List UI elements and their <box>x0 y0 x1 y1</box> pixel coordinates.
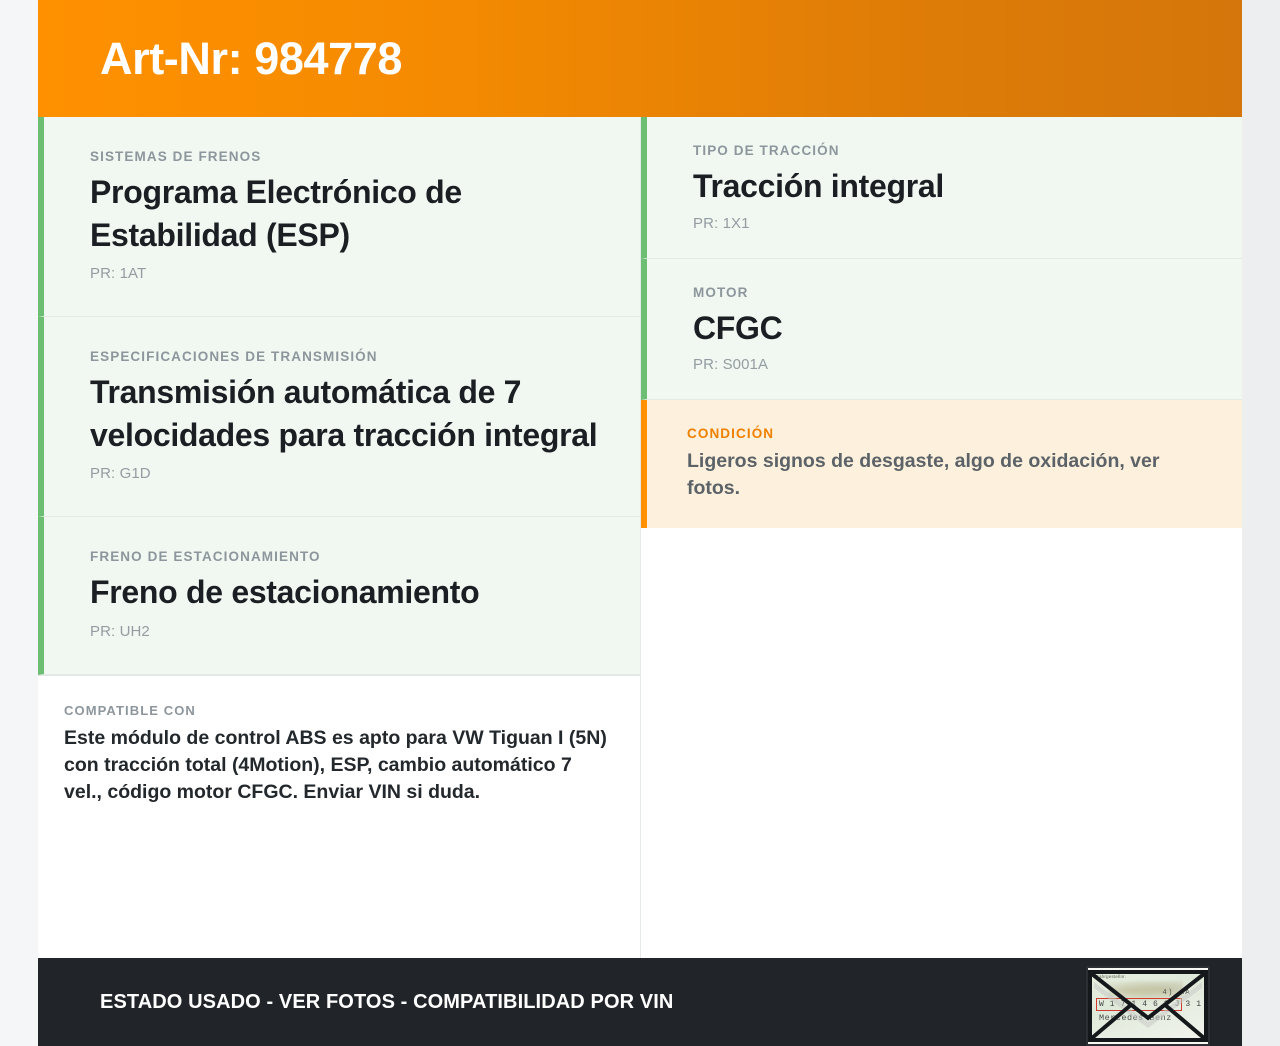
vin-document-thumbnail: Fahrgestellnr. 4) AA W 1 7 1 4 6 2 J 3 1… <box>1086 966 1210 1046</box>
spec-pr-code: PR: 1X1 <box>693 215 1212 232</box>
spec-pr-code: PR: UH2 <box>90 623 610 640</box>
condition-text: Ligeros signos de desgaste, algo de oxid… <box>687 448 1202 501</box>
spec-value: Tracción integral <box>693 165 1212 208</box>
spec-card-engine: MOTOR CFGC PR: S001A <box>641 259 1242 401</box>
spec-pr-code: PR: 1AT <box>90 265 610 282</box>
compatibility-text: Este módulo de control ABS es apto para … <box>64 725 608 806</box>
listing-container: Art-Nr: 984778 SISTEMAS DE FRENOS Progra… <box>38 0 1242 1046</box>
vin-top-code: 4) AA <box>1162 989 1191 997</box>
compatibility-label: COMPATIBLE CON <box>64 703 608 718</box>
article-number: Art-Nr: 984778 <box>100 36 402 81</box>
spec-card-brake-systems: SISTEMAS DE FRENOS Programa Electrónico … <box>38 117 640 317</box>
spec-body: SISTEMAS DE FRENOS Programa Electrónico … <box>38 117 1242 958</box>
spec-value: Transmisión automática de 7 velocidades … <box>90 371 610 456</box>
spec-column-left: SISTEMAS DE FRENOS Programa Electrónico … <box>38 117 640 958</box>
spec-label: MOTOR <box>693 285 1212 300</box>
vin-caption: Fahrgestellnr. <box>1096 974 1126 979</box>
spec-label: ESPECIFICACIONES DE TRANSMISIÓN <box>90 349 610 364</box>
spec-pr-code: PR: S001A <box>693 356 1212 373</box>
vin-number: W 1 7 1 4 6 2 J 3 1 4 3 7 <box>1099 1000 1210 1009</box>
spec-label: SISTEMAS DE FRENOS <box>90 149 610 164</box>
spec-column-right: TIPO DE TRACCIÓN Tracción integral PR: 1… <box>640 117 1242 958</box>
vin-brand: Mercedes-Benz <box>1099 1013 1172 1023</box>
spec-value: Programa Electrónico de Estabilidad (ESP… <box>90 171 610 256</box>
right-column-filler <box>641 528 1242 959</box>
spec-value: Freno de estacionamiento <box>90 571 610 614</box>
spec-value: CFGC <box>693 307 1212 350</box>
compatibility-block: COMPATIBLE CON Este módulo de control AB… <box>38 675 640 832</box>
condition-card: CONDICIÓN Ligeros signos de desgaste, al… <box>641 400 1242 527</box>
condition-label: CONDICIÓN <box>687 426 1202 441</box>
footer-notice: ESTADO USADO - VER FOTOS - COMPATIBILIDA… <box>100 991 673 1014</box>
vin-document-image: Fahrgestellnr. 4) AA W 1 7 1 4 6 2 J 3 1… <box>1091 971 1205 1041</box>
listing-header: Art-Nr: 984778 <box>38 0 1242 117</box>
left-column-filler <box>38 831 640 958</box>
spec-pr-code: PR: G1D <box>90 465 610 482</box>
spec-card-parking-brake: FRENO DE ESTACIONAMIENTO Freno de estaci… <box>38 517 640 675</box>
spec-card-drive-type: TIPO DE TRACCIÓN Tracción integral PR: 1… <box>641 117 1242 259</box>
spec-label: TIPO DE TRACCIÓN <box>693 143 1212 158</box>
listing-footer: ESTADO USADO - VER FOTOS - COMPATIBILIDA… <box>38 958 1242 1046</box>
spec-label: FRENO DE ESTACIONAMIENTO <box>90 549 610 564</box>
spec-card-transmission: ESPECIFICACIONES DE TRANSMISIÓN Transmis… <box>38 317 640 517</box>
